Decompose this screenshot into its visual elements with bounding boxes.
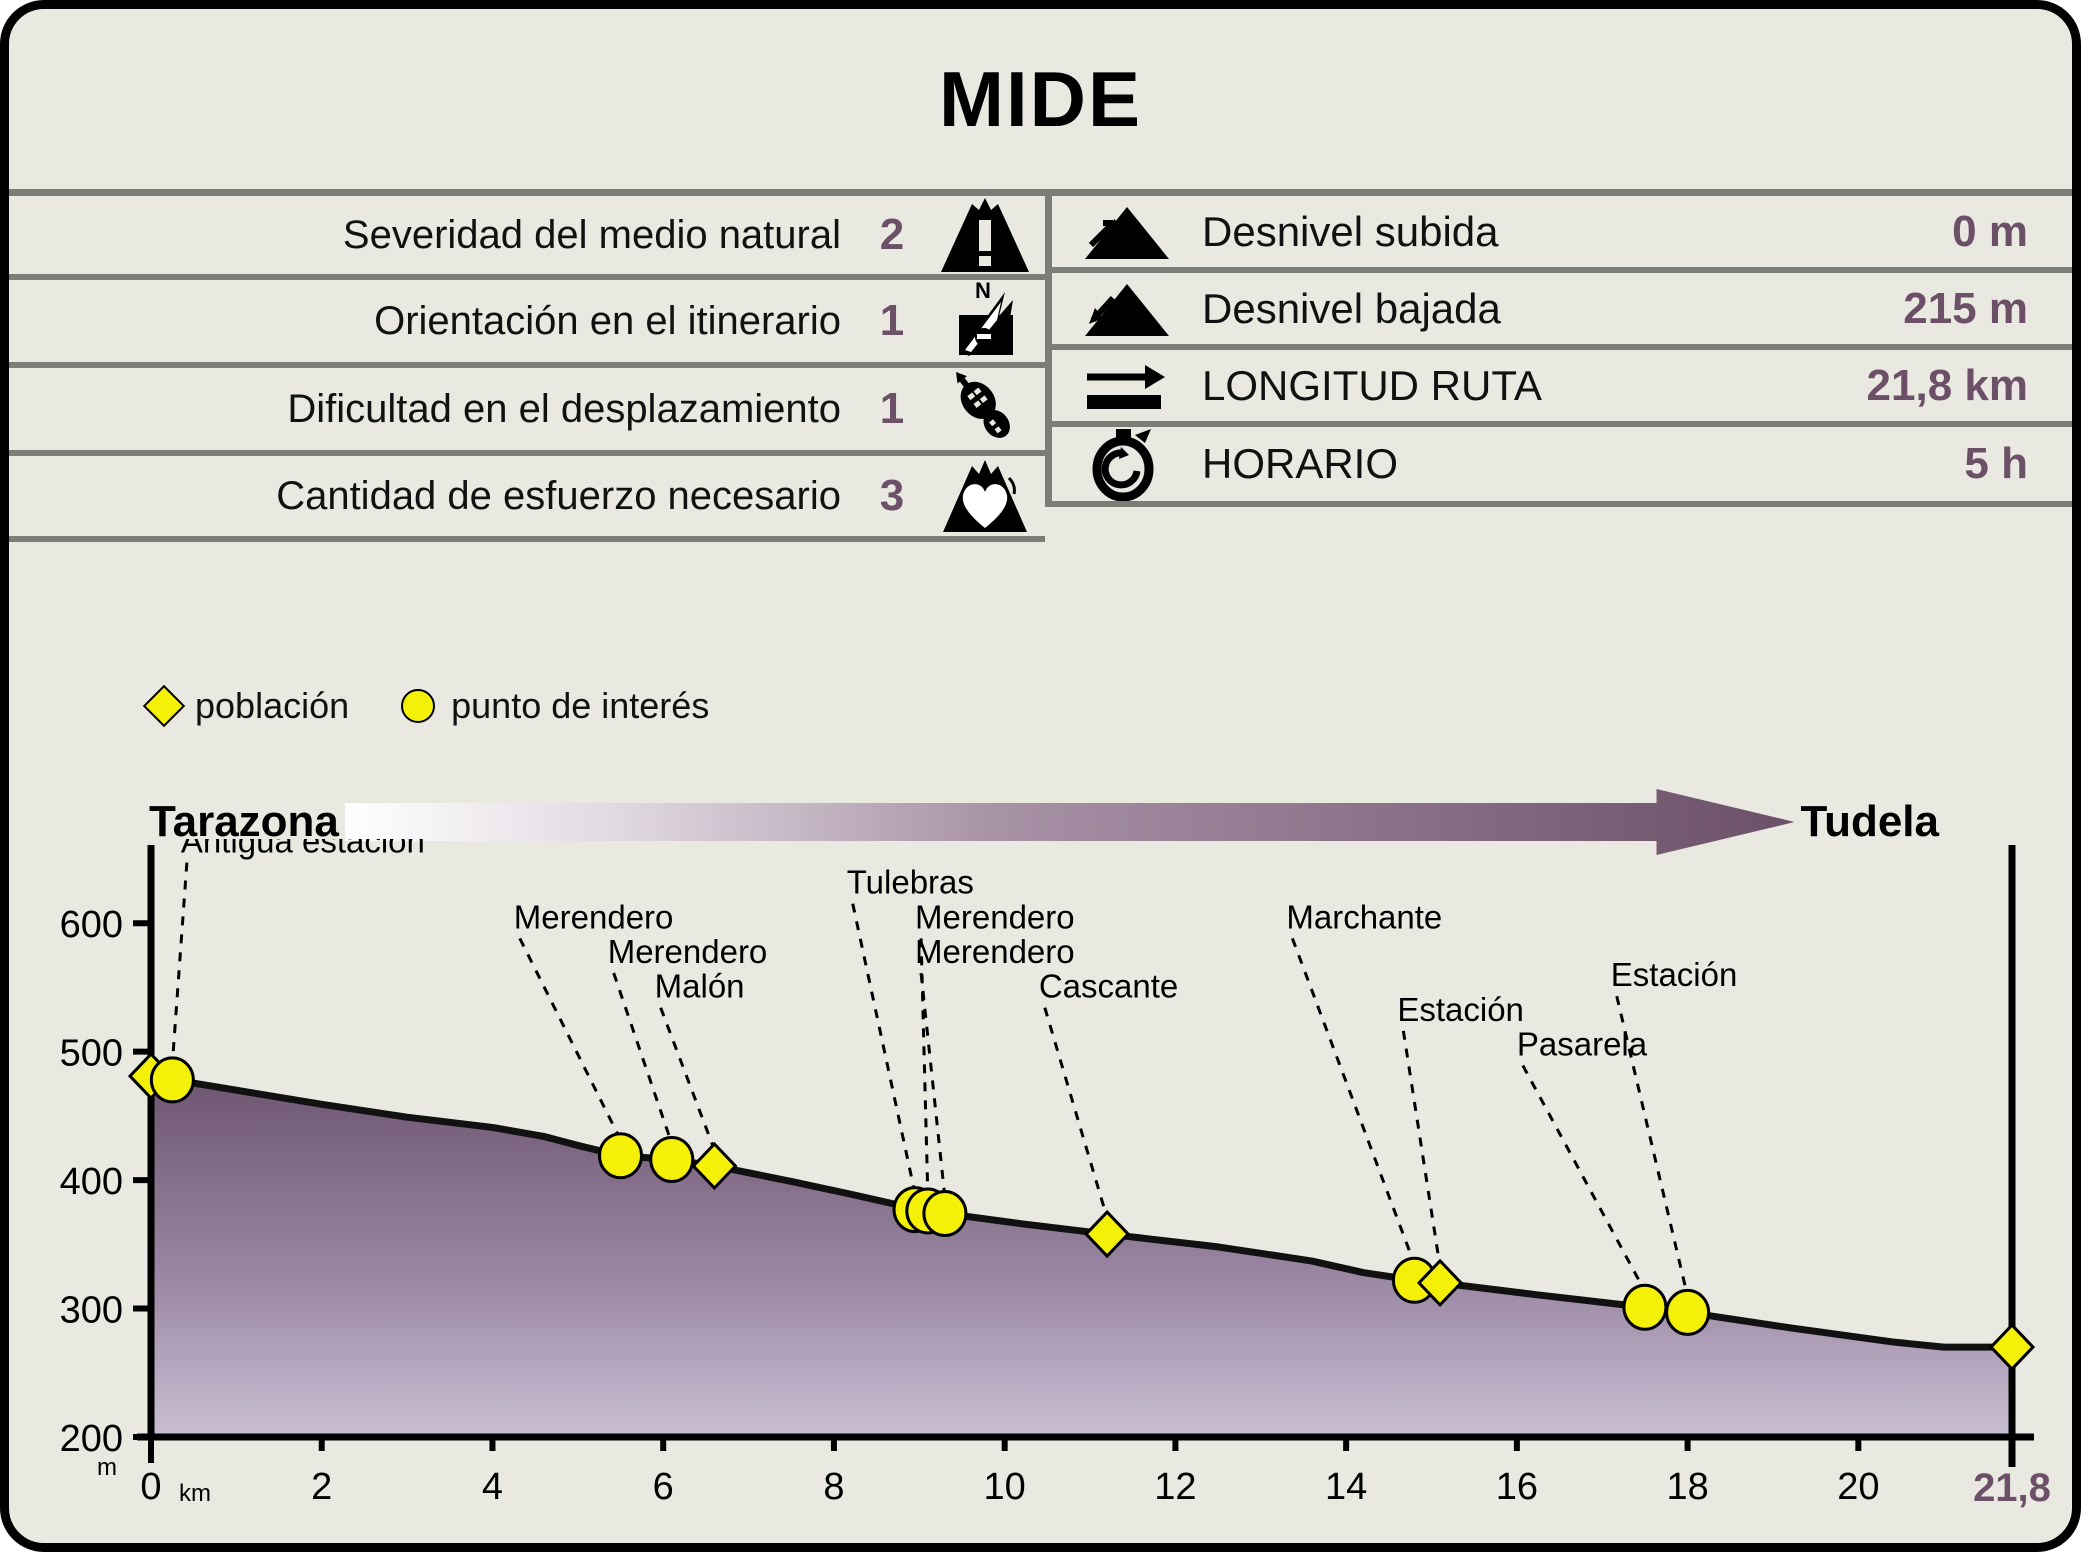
criteria-score: 1 <box>859 384 925 434</box>
criteria-label: Severidad del medio natural <box>9 213 859 258</box>
y-tick-label: 300 <box>60 1290 123 1332</box>
x-tick-label: 16 <box>1496 1466 1538 1508</box>
table-row-dificultad: Dificultad en el desplazamiento 1 <box>9 368 1045 456</box>
stopwatch-icon <box>1052 427 1202 501</box>
poi-label: Marchante <box>1286 898 1442 935</box>
legend-item-poblacion: población <box>149 685 349 727</box>
page-title: MIDE <box>939 54 1142 145</box>
poi-label: Estación <box>1611 956 1738 993</box>
mide-metrics-table: Desnivel subida 0 m Desnivel bajada 215 … <box>1052 196 2072 507</box>
mide-criteria-table: Severidad del medio natural 2 Orientació… <box>9 196 1052 507</box>
x-tick-label: 20 <box>1837 1466 1879 1508</box>
poi-label: Pasarela <box>1517 1026 1648 1063</box>
boot-sole-icon <box>925 368 1045 450</box>
poi-leader-line <box>172 863 187 1064</box>
heart-mountain-icon <box>925 456 1045 536</box>
poi-leader-line <box>1045 1008 1107 1218</box>
x-tick-label: 14 <box>1325 1466 1367 1508</box>
criteria-score: 3 <box>859 471 925 521</box>
poi-label: Merendero <box>915 933 1075 970</box>
metric-label: LONGITUD RUTA <box>1202 362 1867 410</box>
warning-triangle-icon <box>925 196 1045 274</box>
diamond-marker-icon <box>143 685 185 727</box>
table-row-esfuerzo: Cantidad de esfuerzo necesario 3 <box>9 456 1045 542</box>
marker-punto-interes <box>924 1192 966 1236</box>
y-tick-label: 400 <box>60 1161 123 1203</box>
poi-leader-line <box>1292 938 1414 1264</box>
table-row-desnivel-bajada: Desnivel bajada 215 m <box>1052 273 2072 350</box>
marker-punto-interes <box>651 1138 693 1182</box>
metric-label: Desnivel bajada <box>1202 285 1903 333</box>
x-tick-label: 10 <box>984 1466 1026 1508</box>
criteria-label: Orientación en el itinerario <box>9 299 859 344</box>
poi-label: Malón <box>655 968 745 1005</box>
poi-leader-line <box>1523 1066 1645 1292</box>
x-tick-label: 18 <box>1666 1466 1708 1508</box>
metric-value: 21,8 km <box>1867 361 2072 411</box>
table-row-horario: HORARIO 5 h <box>1052 427 2072 507</box>
mide-infographic-card: MIDE Severidad del medio natural 2 Orien… <box>0 0 2081 1552</box>
poi-label: Antigua estación <box>181 839 425 860</box>
compass-map-icon: N <box>925 280 1045 362</box>
y-tick-label: 500 <box>60 1033 123 1075</box>
marker-punto-interes <box>1667 1290 1709 1334</box>
poi-label: Cascante <box>1039 968 1178 1005</box>
x-tick-label: 0 <box>140 1466 161 1508</box>
legend-label: población <box>195 685 349 727</box>
poi-leader-line <box>1403 1031 1440 1267</box>
x-tick-label: 2 <box>311 1466 332 1508</box>
x-tick-label: 8 <box>823 1466 844 1508</box>
table-row-severidad: Severidad del medio natural 2 <box>9 196 1045 280</box>
table-row-orientacion: Orientación en el itinerario 1 N <box>9 280 1045 368</box>
x-tick-label: 4 <box>482 1466 503 1508</box>
poi-leader-line <box>853 904 915 1194</box>
metric-value: 215 m <box>1903 284 2072 334</box>
criteria-label: Dificultad en el desplazamiento <box>9 387 859 432</box>
x-axis-unit: km <box>179 1480 211 1507</box>
poi-label: Merendero <box>608 933 768 970</box>
poi-label: Tulebras <box>847 864 974 901</box>
poi-label: Estación <box>1397 991 1524 1028</box>
legend-item-punto-interes: punto de interés <box>401 685 709 727</box>
y-axis-unit: m <box>97 1454 117 1481</box>
table-row-longitud-ruta: LONGITUD RUTA 21,8 km <box>1052 350 2072 427</box>
poi-label: Merendero <box>514 898 674 935</box>
metric-label: Desnivel subida <box>1202 208 1952 256</box>
poi-leader-line <box>661 1008 715 1150</box>
legend-label: punto de interés <box>451 685 709 727</box>
metric-value: 5 h <box>1964 439 2072 489</box>
marker-punto-interes <box>1624 1285 1666 1329</box>
title-bar: MIDE <box>9 9 2072 196</box>
svg-text:N: N <box>975 280 991 303</box>
metric-label: HORARIO <box>1202 440 1964 488</box>
distance-icon <box>1052 357 1202 415</box>
marker-punto-interes <box>151 1058 193 1102</box>
x-tick-label: 12 <box>1154 1466 1196 1508</box>
mide-tables: Severidad del medio natural 2 Orientació… <box>9 196 2072 507</box>
poi-label: Merendero <box>915 898 1075 935</box>
circle-marker-icon <box>401 689 435 723</box>
criteria-score: 1 <box>859 296 925 346</box>
x-tick-label: 6 <box>653 1466 674 1508</box>
marker-punto-interes <box>600 1134 642 1178</box>
x-end-tick-label: 21,8 <box>1973 1466 2051 1510</box>
descent-icon <box>1052 278 1202 340</box>
y-tick-label: 600 <box>60 904 123 946</box>
criteria-label: Cantidad de esfuerzo necesario <box>9 474 859 519</box>
chart-legend: población punto de interés <box>149 685 709 727</box>
criteria-score: 2 <box>859 210 925 260</box>
ascent-icon <box>1052 201 1202 263</box>
metric-value: 0 m <box>1952 207 2072 257</box>
poi-leader-line <box>520 938 621 1139</box>
table-row-desnivel-subida: Desnivel subida 0 m <box>1052 196 2072 273</box>
elevation-profile-chart: 200300400500600m02468101214161820km21,8A… <box>9 839 2081 1552</box>
